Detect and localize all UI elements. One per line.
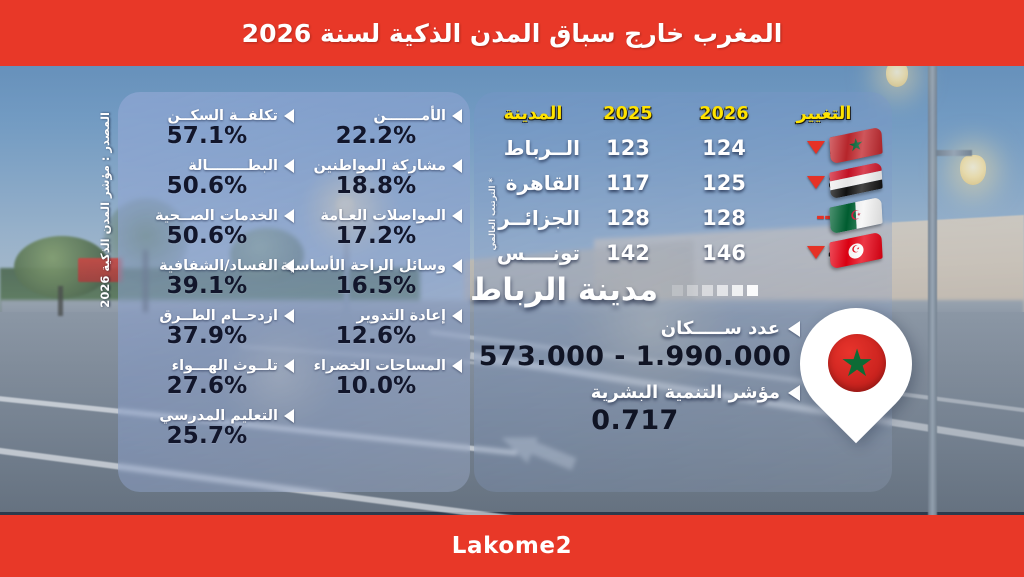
morocco-flag-disc-icon: ★: [828, 334, 886, 392]
indicator-label-row: الفساد/الشفافية: [126, 258, 294, 274]
indicator-label: تلــوث الهـــواء: [172, 358, 278, 374]
indicator-label: ازدحــام الطــرق: [159, 308, 278, 324]
indicator-value: 12.6%: [294, 323, 462, 349]
indicator-value: 10.0%: [294, 373, 462, 399]
egypt-flag-icon: [829, 162, 882, 200]
indicator-item: الفساد/الشفافية 39.1%: [126, 258, 294, 302]
cell-city-name: تونــــس: [486, 241, 580, 265]
cell-rank-2025: 117: [580, 171, 676, 195]
city-stat-value: 573.000 - 1.990.000: [470, 341, 800, 372]
indicator-label-row: مشاركة المواطنين: [294, 158, 462, 174]
indicator-value: 39.1%: [126, 273, 294, 299]
indicator-label: البطــــــــالة: [188, 158, 278, 174]
page-title: المغرب خارج سباق المدن الذكية لسنة 2026: [242, 19, 783, 48]
indicator-item: المواصلات العـامة 17.2%: [294, 208, 462, 252]
indicator-value: 50.6%: [126, 223, 294, 249]
indicator-label-row: إعادة التدوير: [294, 308, 462, 324]
dashed-decoration: [672, 285, 758, 296]
indicator-label: الفساد/الشفافية: [159, 258, 278, 274]
bullet-triangle-icon: [284, 109, 294, 123]
indicator-item: الخدمات الصــحية 50.6%: [126, 208, 294, 252]
indicator-label: تكلفــة السكــن: [167, 108, 278, 124]
bullet-triangle-icon: [284, 209, 294, 223]
indicator-value: 18.8%: [294, 173, 462, 199]
cell-rank-2025: 142: [580, 241, 676, 265]
map-pin-marker: ★: [800, 308, 920, 456]
indicator-value: 25.7%: [126, 423, 294, 449]
indicator-label-row: الأمـــــــن: [294, 108, 462, 124]
indicator-label-row: الخدمات الصــحية: [126, 208, 294, 224]
bullet-triangle-icon: [284, 259, 294, 273]
city-profile-card: مدينة الرباط عدد ســـــكان 573.000 - 1.9…: [470, 272, 800, 436]
cell-rank-2026: 128: [676, 206, 772, 230]
bullet-triangle-icon: [452, 259, 462, 273]
indicator-label-row: تكلفــة السكــن: [126, 108, 294, 124]
column-header-2026: 2026: [676, 104, 772, 124]
morocco-flag-icon: ★: [829, 127, 882, 165]
indicator-value: 57.1%: [126, 123, 294, 149]
cell-city-name: الــرباط: [486, 136, 580, 160]
indicator-label: إعادة التدوير: [356, 308, 446, 324]
tunisia-flag-icon: ☪: [829, 232, 882, 270]
bullet-triangle-icon: [284, 409, 294, 423]
city-stat-label-row: مؤشر التنمية البشرية: [470, 382, 800, 403]
column-header-2025: 2025: [580, 104, 676, 124]
bullet-triangle-icon: [788, 385, 800, 401]
bullet-triangle-icon: [452, 159, 462, 173]
indicator-label: الخدمات الصــحية: [155, 208, 278, 224]
city-stat-label: مؤشر التنمية البشرية: [591, 382, 780, 403]
indicators-column-left: الأمـــــــن 22.2% مشاركة المواطنين 18.8…: [294, 108, 462, 458]
bullet-triangle-icon: [452, 309, 462, 323]
brand-logo: Lakome2: [452, 533, 572, 559]
algeria-flag-icon: ☪: [829, 197, 882, 235]
indicator-value: 16.5%: [294, 273, 462, 299]
indicator-label: وسائل الراحة الأساسية: [281, 258, 446, 274]
bullet-triangle-icon: [452, 109, 462, 123]
indicators-grid: تكلفــة السكــن 57.1% البطــــــــالة 50…: [126, 108, 462, 458]
indicator-item: التعليم المدرسي 25.7%: [126, 408, 294, 452]
indicator-label-row: وسائل الراحة الأساسية: [294, 258, 462, 274]
city-stat-value: 0.717: [470, 405, 800, 436]
city-stat-hdi: مؤشر التنمية البشرية 0.717: [470, 382, 800, 436]
column-header-city: المدينة: [486, 104, 580, 124]
header-bar: المغرب خارج سباق المدن الذكية لسنة 2026: [0, 0, 1024, 66]
city-stat-population: عدد ســـــكان 573.000 - 1.990.000: [470, 318, 800, 372]
flag-row: ☪: [818, 198, 882, 233]
indicator-label-row: البطــــــــالة: [126, 158, 294, 174]
source-note: المصدر : مؤشر المدن الذكية 2026: [98, 112, 112, 308]
indicator-value: 37.9%: [126, 323, 294, 349]
indicator-value: 17.2%: [294, 223, 462, 249]
bullet-triangle-icon: [788, 321, 800, 337]
indicator-item: ازدحــام الطــرق 37.9%: [126, 308, 294, 352]
indicator-label: مشاركة المواطنين: [313, 158, 446, 174]
indicator-item: وسائل الراحة الأساسية 16.5%: [294, 258, 462, 302]
indicator-item: الأمـــــــن 22.2%: [294, 108, 462, 152]
bullet-triangle-icon: [284, 359, 294, 373]
indicator-label-row: تلــوث الهـــواء: [126, 358, 294, 374]
cell-rank-2026: 146: [676, 241, 772, 265]
bullet-triangle-icon: [284, 159, 294, 173]
indicator-label: التعليم المدرسي: [159, 408, 278, 424]
flag-row: ★: [818, 128, 882, 163]
indicator-label: الأمـــــــن: [373, 108, 446, 124]
infographic-root: المغرب خارج سباق المدن الذكية لسنة 2026 …: [0, 0, 1024, 577]
indicator-label-row: المواصلات العـامة: [294, 208, 462, 224]
indicator-value: 22.2%: [294, 123, 462, 149]
bullet-triangle-icon: [284, 309, 294, 323]
indicators-column-right: تكلفــة السكــن 57.1% البطــــــــالة 50…: [126, 108, 294, 458]
indicator-item: المساحات الخضراء 10.0%: [294, 358, 462, 402]
indicator-label: المساحات الخضراء: [314, 358, 446, 374]
bullet-triangle-icon: [452, 209, 462, 223]
table-header-row: التغيير 2026 2025 المدينة: [486, 104, 876, 124]
indicator-value: 50.6%: [126, 173, 294, 199]
indicator-item: إعادة التدوير 12.6%: [294, 308, 462, 352]
cell-city-name: القاهرة: [486, 171, 580, 195]
cell-rank-2026: 125: [676, 171, 772, 195]
city-stat-label: عدد ســـــكان: [661, 318, 780, 339]
ranking-note: * الترتيب العالمي: [488, 178, 498, 250]
flags-column: ★ ☪ ☪: [818, 128, 882, 268]
cell-rank-2025: 128: [580, 206, 676, 230]
indicator-value: 27.6%: [126, 373, 294, 399]
footer-bar: Lakome2: [0, 515, 1024, 577]
cell-rank-2025: 123: [580, 136, 676, 160]
column-header-change: التغيير: [772, 104, 876, 124]
indicator-item: مشاركة المواطنين 18.8%: [294, 158, 462, 202]
flag-row: ☪: [818, 233, 882, 268]
cell-rank-2026: 124: [676, 136, 772, 160]
flag-row: [818, 163, 882, 198]
indicator-item: تكلفــة السكــن 57.1%: [126, 108, 294, 152]
indicator-item: البطــــــــالة 50.6%: [126, 158, 294, 202]
city-title-row: مدينة الرباط: [470, 272, 800, 308]
city-stat-label-row: عدد ســـــكان: [470, 318, 800, 339]
indicator-label-row: التعليم المدرسي: [126, 408, 294, 424]
cell-city-name: الجزائــر: [486, 206, 580, 230]
indicator-item: تلــوث الهـــواء 27.6%: [126, 358, 294, 402]
city-name-heading: مدينة الرباط: [470, 272, 658, 308]
bullet-triangle-icon: [452, 359, 462, 373]
indicator-label-row: المساحات الخضراء: [294, 358, 462, 374]
indicator-label-row: ازدحــام الطــرق: [126, 308, 294, 324]
indicator-label: المواصلات العـامة: [320, 208, 446, 224]
